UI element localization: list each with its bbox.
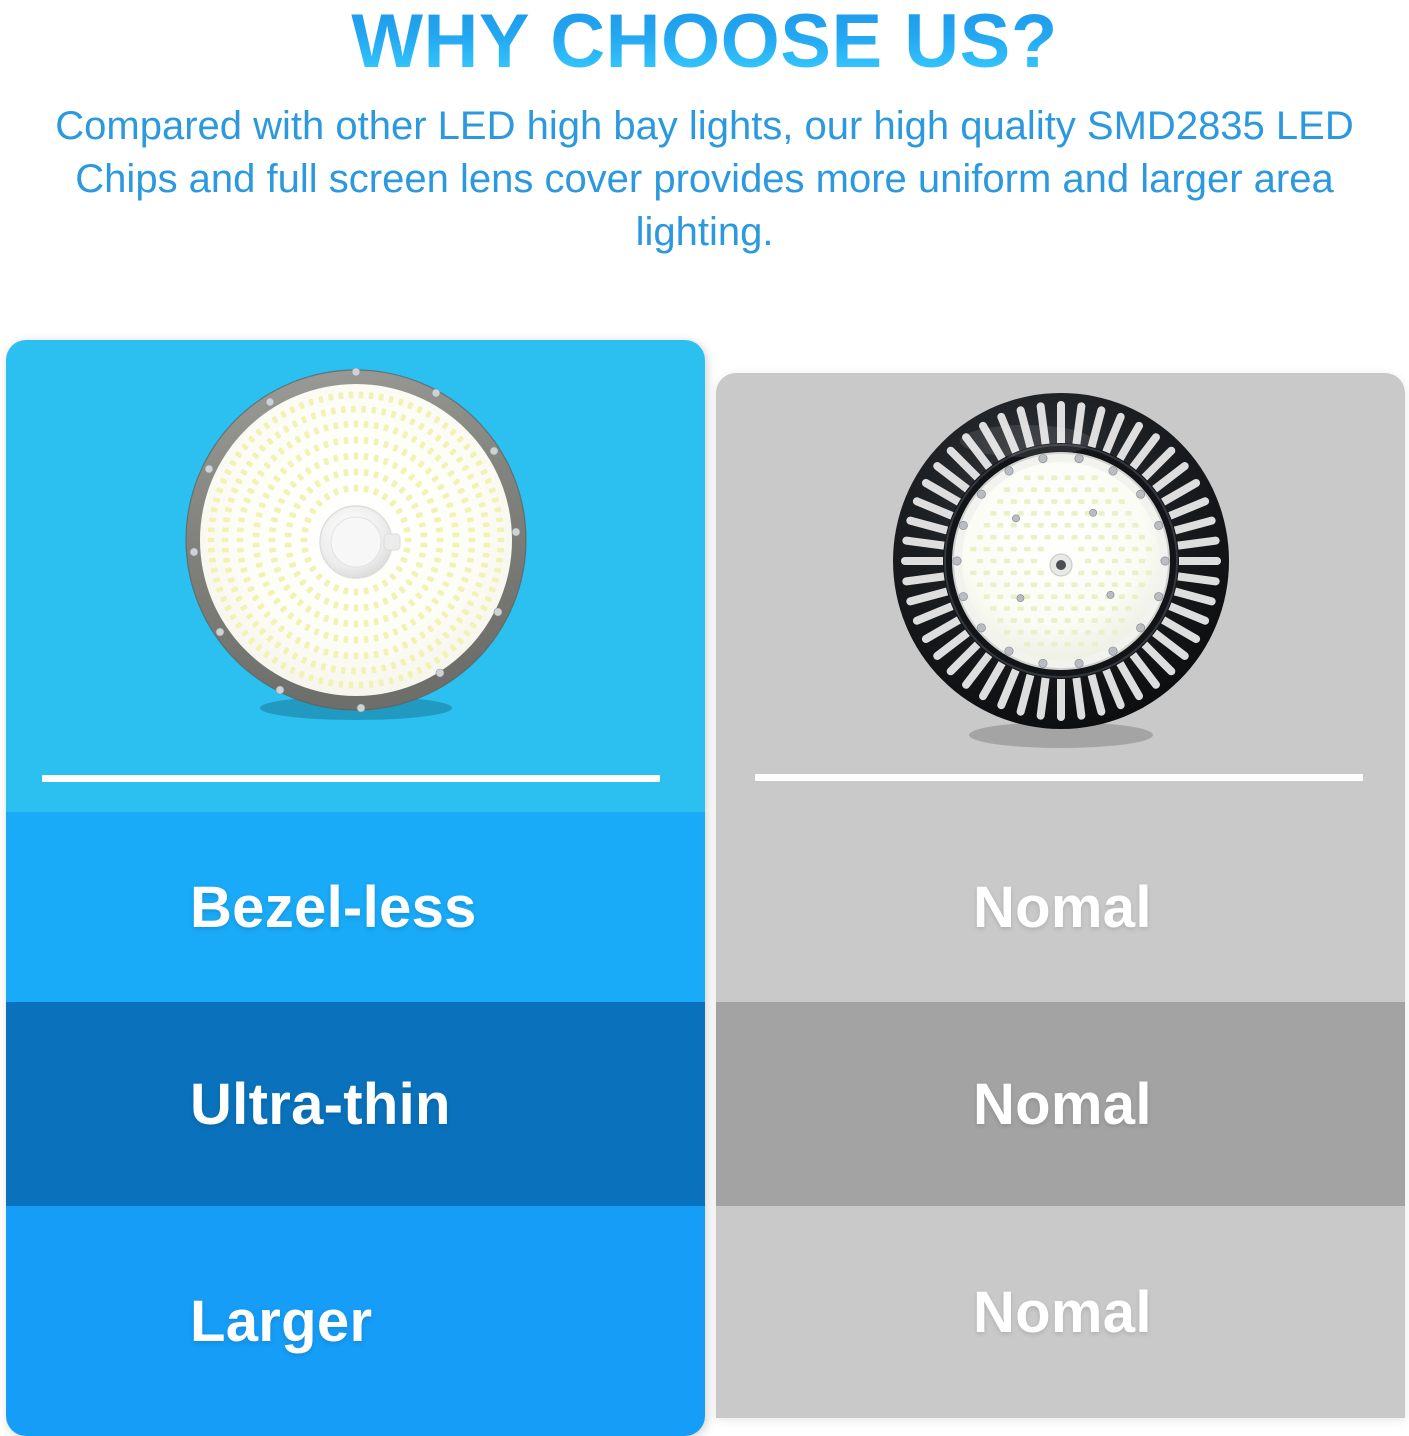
divider-line-others (755, 774, 1363, 781)
normal-ufo-light-icon (886, 383, 1236, 753)
comparison-board: Bezel-less Ultra-thin Larger (0, 340, 1409, 1436)
feature-row-ours-2: Ultra-thin (6, 1002, 705, 1206)
divider-line-ours (42, 775, 660, 782)
header-section: WHY CHOOSE US? Compared with other LED h… (0, 0, 1409, 300)
comparison-column-others: Nomal Nomal Nomal (716, 373, 1405, 1418)
feature-row-others-2: Nomal (716, 1002, 1405, 1206)
page-title: WHY CHOOSE US? (0, 0, 1409, 82)
feature-label-nomal-3: Nomal (716, 1279, 1152, 1346)
feature-label-nomal-1: Nomal (716, 874, 1152, 941)
feature-label-nomal-2: Nomal (716, 1071, 1152, 1138)
page-subtitle: Compared with other LED high bay lights,… (40, 82, 1370, 260)
feature-row-others-1: Nomal (716, 812, 1405, 1002)
feature-label-bezel-less: Bezel-less (6, 874, 477, 941)
feature-row-others-3: Nomal (716, 1206, 1405, 1418)
product-image-ours-area (6, 340, 705, 812)
feature-row-ours-1: Bezel-less (6, 812, 705, 1002)
feature-label-ultra-thin: Ultra-thin (6, 1071, 451, 1138)
product-image-others-area (716, 373, 1405, 812)
comparison-column-ours: Bezel-less Ultra-thin Larger (6, 340, 705, 1436)
feature-label-larger: Larger (6, 1288, 372, 1355)
feature-row-ours-3: Larger (6, 1206, 705, 1436)
bezel-less-light-icon (176, 364, 536, 724)
